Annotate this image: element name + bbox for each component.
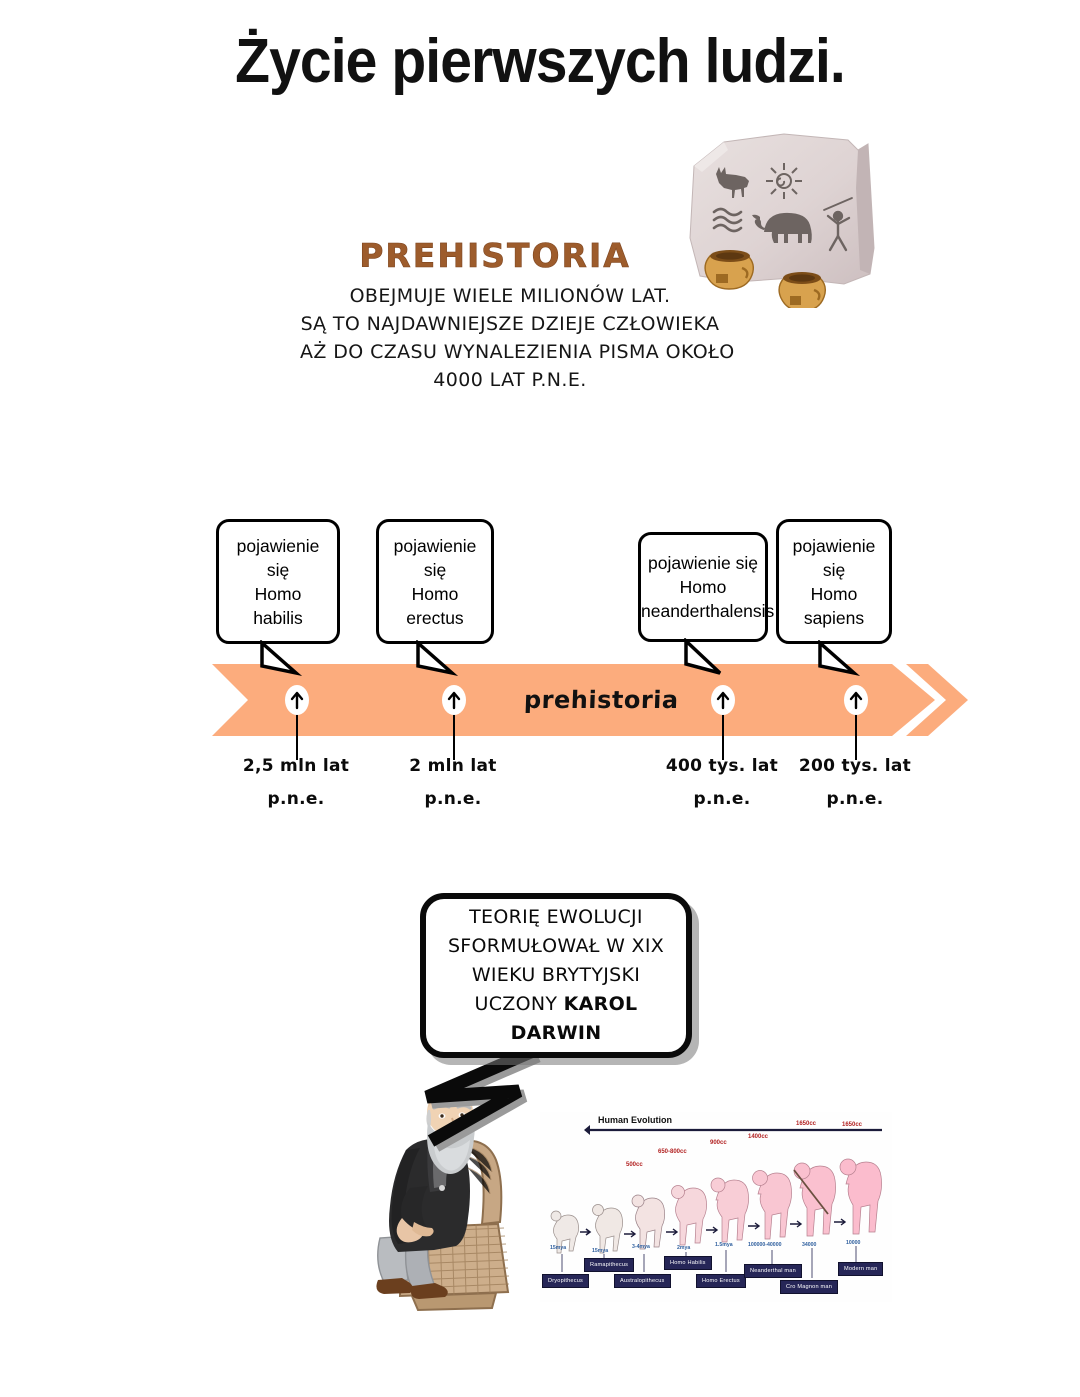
- date-line: p.n.e.: [765, 783, 945, 816]
- timeline-bubble-tail: [816, 640, 876, 685]
- timeline-marker[interactable]: [442, 685, 466, 715]
- darwin-speech-line: UCZONY: [475, 993, 564, 1015]
- evolution-time-label: 10000: [846, 1240, 860, 1246]
- date-line: 2,5 mln lat: [206, 750, 386, 783]
- darwin-name-first: KAROL: [564, 993, 638, 1015]
- evolution-brain-label: 1400cc: [748, 1134, 768, 1140]
- evolution-brain-label: 900cc: [710, 1140, 727, 1146]
- prehistoria-desc-line: SĄ TO NAJDAWNIEJSZE DZIEJE CZŁOWIEKA: [300, 310, 720, 338]
- bubble-line: Homo: [219, 582, 337, 606]
- timeline-marker[interactable]: [844, 685, 868, 715]
- darwin-speech-line: WIEKU BRYTYJSKI: [426, 961, 686, 990]
- evolution-time-label: 100000-40000: [748, 1242, 781, 1248]
- bubble-line: pojawienie: [219, 534, 337, 558]
- bubble-line: Homo: [779, 582, 889, 606]
- prehistoria-heading: PREHISTORIA: [330, 236, 660, 275]
- evolution-time-label: 15mya: [550, 1245, 566, 1251]
- prehistory-timeline: prehistoria pojawienie się Homo habilis …: [0, 500, 1080, 820]
- darwin-speech-tail: [415, 1045, 575, 1160]
- darwin-speech-line: SFORMUŁOWAŁ W XIX: [426, 932, 686, 961]
- timeline-date-homo-sapiens: 200 tys. lat p.n.e.: [765, 750, 945, 816]
- darwin-name-last-wrap: DARWIN: [426, 1019, 686, 1048]
- timeline-bubble-tail: [414, 640, 474, 685]
- bubble-line: erectus: [379, 606, 491, 630]
- human-evolution-chart: Human Evolution: [540, 1112, 892, 1302]
- darwin-speech-line: TEORIĘ EWOLUCJI: [426, 903, 686, 932]
- bubble-line: pojawienie się: [641, 551, 765, 575]
- evolution-brain-label: 1650cc: [842, 1122, 862, 1128]
- evolution-brain-label: 1650cc: [796, 1121, 816, 1127]
- timeline-marker[interactable]: [711, 685, 735, 715]
- infographic-page: Życie pierwszych ludzi.: [0, 0, 1080, 1397]
- prehistoria-desc-line: 4000 LAT P.N.E.: [300, 366, 720, 394]
- bubble-line: Homo: [641, 575, 765, 599]
- evolution-species-modern-man: Modern man: [838, 1262, 883, 1276]
- bubble-line: pojawienie: [379, 534, 491, 558]
- evolution-species-cro-magnon-man: Cro Magnon man: [780, 1280, 838, 1294]
- evolution-species-homo-habilis: Homo Habilis: [664, 1256, 712, 1270]
- evolution-species-ramapithecus: Ramapithecus: [584, 1258, 634, 1272]
- bubble-line: habilis: [219, 606, 337, 630]
- timeline-bubble-homo-habilis[interactable]: pojawienie się Homo habilis: [216, 519, 340, 644]
- darwin-speech-bubble[interactable]: TEORIĘ EWOLUCJI SFORMUŁOWAŁ W XIX WIEKU …: [420, 893, 692, 1058]
- evolution-species-homo-erectus: Homo Erectus: [696, 1274, 746, 1288]
- evolution-time-label: 34000: [802, 1242, 816, 1248]
- evolution-brain-label: 650-800cc: [658, 1149, 687, 1155]
- evolution-time-label: 1.5mya: [715, 1242, 733, 1248]
- evolution-brain-label: 500cc: [626, 1162, 643, 1168]
- bubble-line: się: [779, 558, 889, 582]
- bubble-line: się: [219, 558, 337, 582]
- bubble-line: neanderthalensis: [641, 599, 765, 623]
- darwin-name-last: DARWIN: [511, 1022, 602, 1044]
- bubble-line: Homo: [379, 582, 491, 606]
- date-line: 2 mln lat: [363, 750, 543, 783]
- page-title: Życie pierwszych ludzi.: [43, 26, 1037, 97]
- timeline-date-homo-erectus: 2 mln lat p.n.e.: [363, 750, 543, 816]
- bubble-line: sapiens: [779, 606, 889, 630]
- date-line: 200 tys. lat: [765, 750, 945, 783]
- timeline-bubble-tail: [258, 640, 318, 685]
- darwin-section: TEORIĘ EWOLUCJI SFORMUŁOWAŁ W XIX WIEKU …: [0, 880, 1080, 1320]
- prehistoria-desc-line: AŻ DO CZASU WYNALEZIENIA PISMA OKOŁO: [300, 338, 720, 366]
- timeline-bubble-homo-sapiens[interactable]: pojawienie się Homo sapiens: [776, 519, 892, 644]
- evolution-time-label: 15mya: [592, 1248, 608, 1254]
- timeline-band-label: prehistoria: [524, 686, 680, 714]
- prehistoria-description: OBEJMUJE WIELE MILIONÓW LAT. SĄ TO NAJDA…: [300, 282, 720, 394]
- darwin-speech-line-with-name: UCZONY KAROL: [426, 990, 686, 1019]
- bubble-line: pojawienie: [779, 534, 889, 558]
- bubble-line: się: [379, 558, 491, 582]
- date-line: p.n.e.: [206, 783, 386, 816]
- date-line: p.n.e.: [363, 783, 543, 816]
- evolution-time-label: 2mya: [677, 1245, 690, 1251]
- prehistoria-desc-line: OBEJMUJE WIELE MILIONÓW LAT.: [300, 282, 720, 310]
- timeline-bubble-homo-neanderthalensis[interactable]: pojawienie się Homo neanderthalensis: [638, 532, 768, 642]
- cave-painting-rock-icon: [672, 128, 930, 308]
- timeline-date-homo-habilis: 2,5 mln lat p.n.e.: [206, 750, 386, 816]
- evolution-time-label: 3-4mya: [632, 1244, 650, 1250]
- evolution-species-australopithecus: Australopithecus: [614, 1274, 671, 1288]
- evolution-species-neanderthal-man: Neanderthal man: [744, 1264, 802, 1278]
- timeline-bubble-tail: [682, 638, 742, 683]
- timeline-bubble-homo-erectus[interactable]: pojawienie się Homo erectus: [376, 519, 494, 644]
- timeline-marker[interactable]: [285, 685, 309, 715]
